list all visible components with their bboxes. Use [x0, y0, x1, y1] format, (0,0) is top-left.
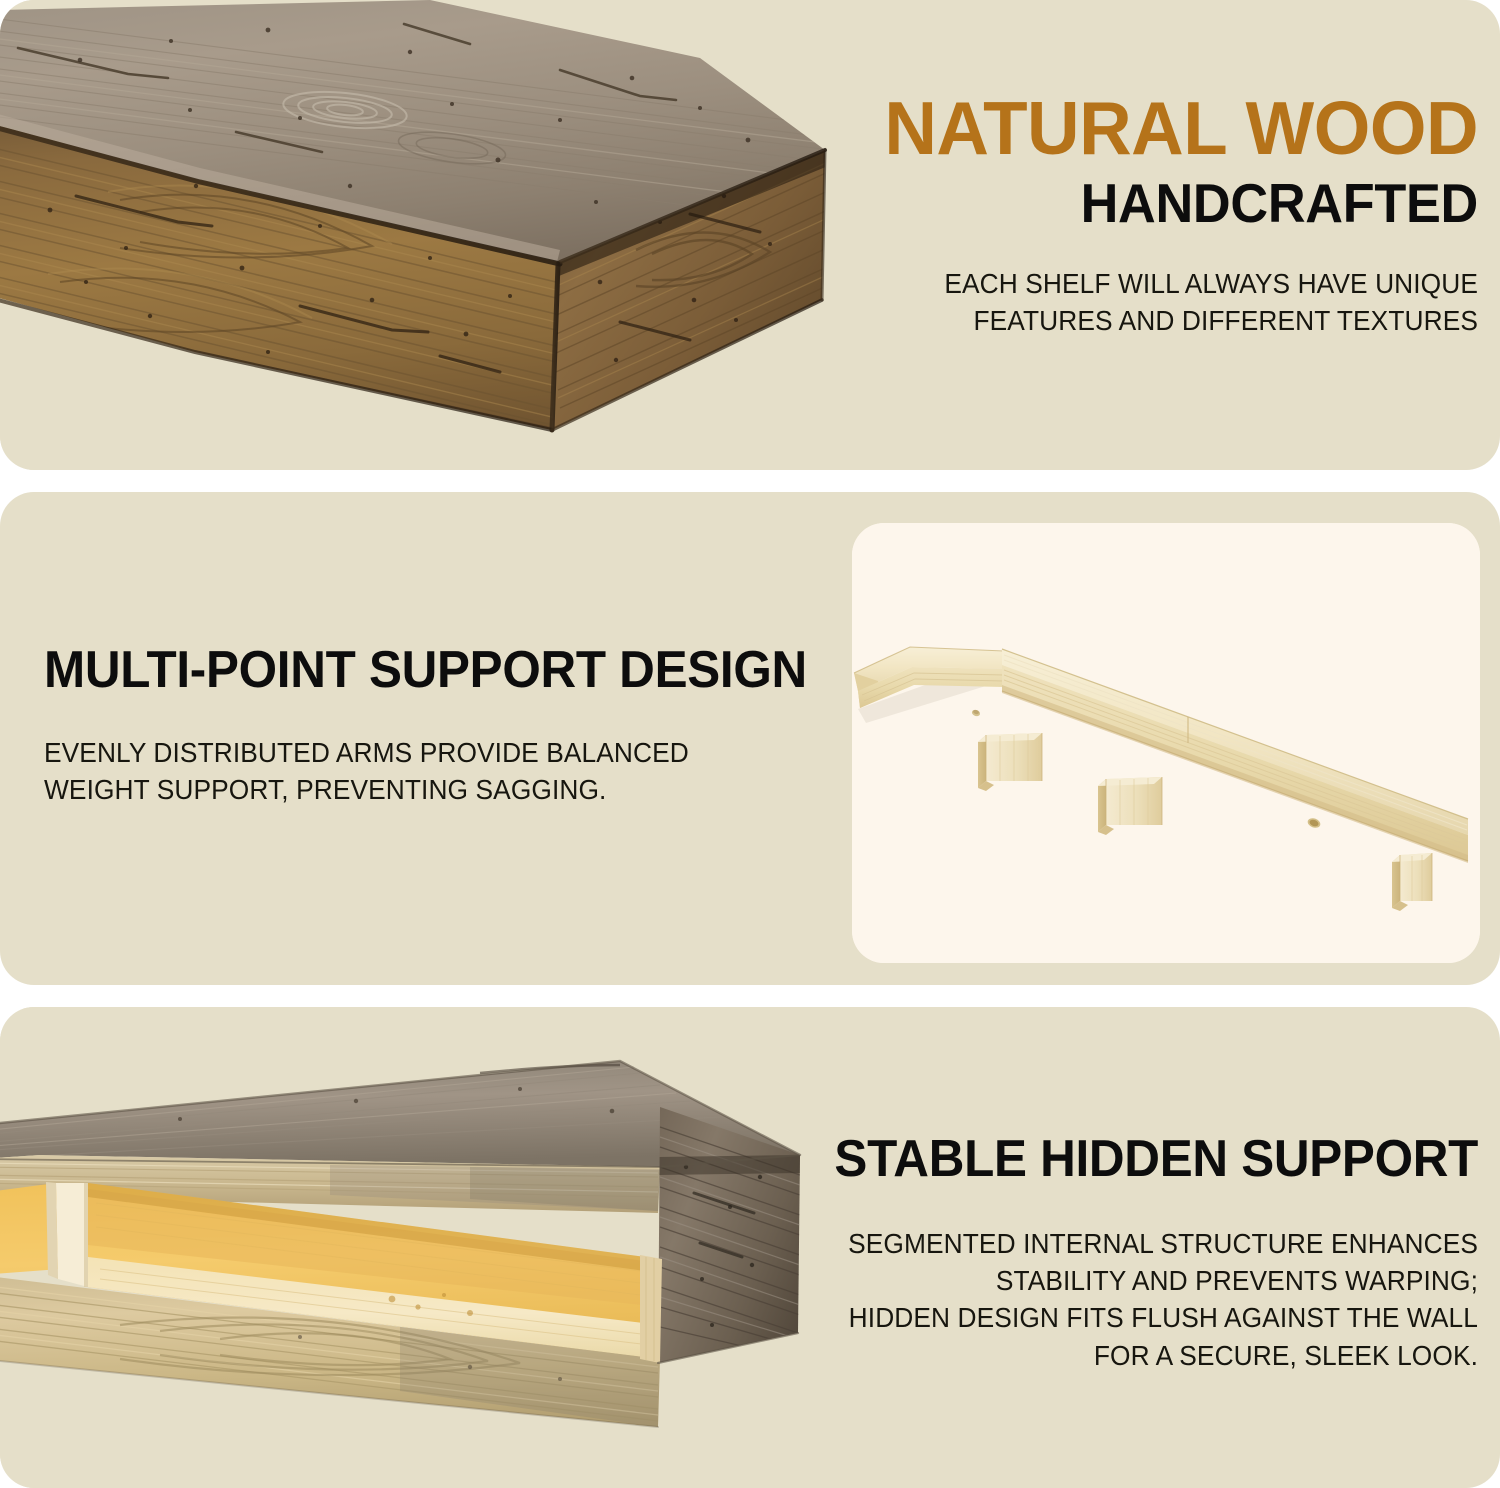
support-description: EVENLY DISTRIBUTED ARMS PROVIDE BALANCED… [44, 734, 824, 808]
shelf-internal-divider [46, 1182, 88, 1287]
infographic-board: NATURAL WOOD HANDCRAFTED EACH SHELF WILL… [0, 0, 1500, 1488]
hidden-description: SEGMENTED INTERNAL STRUCTURE ENHANCES ST… [598, 1225, 1478, 1374]
hero-description-line-1: EACH SHELF WILL ALWAYS HAVE UNIQUE [632, 265, 1478, 302]
hero-description: EACH SHELF WILL ALWAYS HAVE UNIQUE FEATU… [578, 265, 1478, 339]
hero-subtitle: HANDCRAFTED [623, 176, 1478, 231]
panel-stable-hidden-support: STABLE HIDDEN SUPPORT SEGMENTED INTERNAL… [0, 1007, 1500, 1488]
hidden-title: STABLE HIDDEN SUPPORT [642, 1133, 1478, 1185]
hidden-description-line-4: FOR A SECURE, SLEEK LOOK. [651, 1337, 1478, 1374]
hero-copy-block: NATURAL WOOD HANDCRAFTED EACH SHELF WILL… [578, 92, 1478, 339]
hidden-description-line-2: STABILITY AND PREVENTS WARPING; [651, 1262, 1478, 1299]
support-description-line-2: WEIGHT SUPPORT, PREVENTING SAGGING. [44, 771, 777, 808]
hidden-copy-block: STABLE HIDDEN SUPPORT SEGMENTED INTERNAL… [598, 1133, 1478, 1374]
support-title: MULTI-POINT SUPPORT DESIGN [44, 644, 785, 696]
hero-description-line-2: FEATURES AND DIFFERENT TEXTURES [632, 302, 1478, 339]
pine-wall-mount-bracket-photo [852, 523, 1480, 963]
page-title: NATURAL WOOD [605, 92, 1478, 164]
support-description-line-1: EVENLY DISTRIBUTED ARMS PROVIDE BALANCED [44, 734, 777, 771]
hidden-description-line-1: SEGMENTED INTERNAL STRUCTURE ENHANCES [651, 1225, 1478, 1262]
panel-natural-wood: NATURAL WOOD HANDCRAFTED EACH SHELF WILL… [0, 0, 1500, 470]
hidden-description-line-3: HIDDEN DESIGN FITS FLUSH AGAINST THE WAL… [651, 1299, 1478, 1336]
support-copy-block: MULTI-POINT SUPPORT DESIGN EVENLY DISTRI… [44, 644, 824, 808]
bracket-photo-card [852, 523, 1480, 963]
